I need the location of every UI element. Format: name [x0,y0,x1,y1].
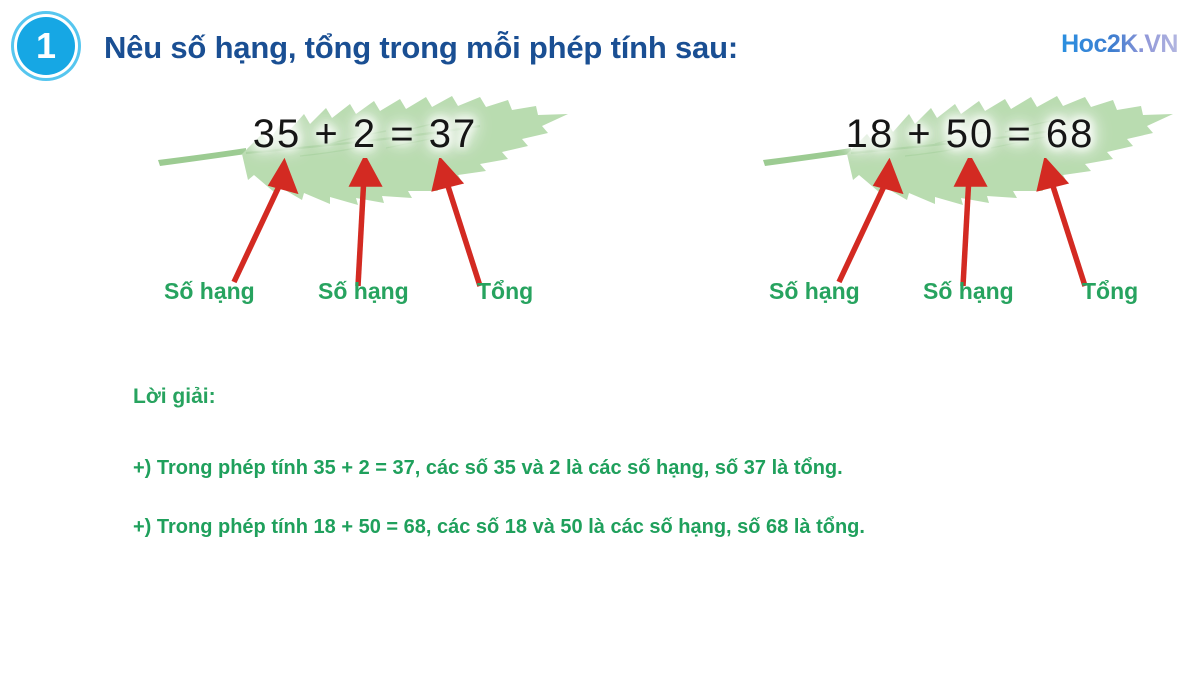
term-label-addend-2: Số hạng [923,278,1014,305]
pointer-arrows-icon [755,158,1185,288]
solution-heading: Lời giải: [133,385,1083,409]
page-title: Nêu số hạng, tổng trong mỗi phép tính sa… [104,30,738,66]
question-number-badge: 1 [17,17,75,75]
solution-line: +) Trong phép tính 35 + 2 = 37, các số 3… [133,453,1043,484]
term-labels-row-1: Số hạng Số hạng Tổng [150,278,580,318]
term-label-sum: Tổng [477,278,533,305]
term-label-sum: Tổng [1082,278,1138,305]
term-label-addend-1: Số hạng [769,278,860,305]
equation-text: 18 + 50 = 68 [755,112,1185,157]
term-labels-row-2: Số hạng Số hạng Tổng [755,278,1185,318]
term-label-addend-1: Số hạng [164,278,255,305]
solution-line: +) Trong phép tính 18 + 50 = 68, các số … [133,512,1043,543]
equation-text: 35 + 2 = 37 [150,112,580,157]
leaf-diagram-area: 35 + 2 = 37 Số hạng Số hạng Tổng [0,82,1200,332]
leaf-diagram-2: 18 + 50 = 68 Số hạng Số hạng Tổng [755,82,1185,332]
brand-logo: Hoc2K.VN [1061,30,1178,59]
page-header: 1 Nêu số hạng, tổng trong mỗi phép tính … [0,0,1200,92]
term-label-addend-2: Số hạng [318,278,409,305]
leaf-diagram-1: 35 + 2 = 37 Số hạng Số hạng Tổng [150,82,580,332]
pointer-arrows-icon [150,158,580,288]
solution-section: Lời giải: +) Trong phép tính 35 + 2 = 37… [133,385,1083,571]
